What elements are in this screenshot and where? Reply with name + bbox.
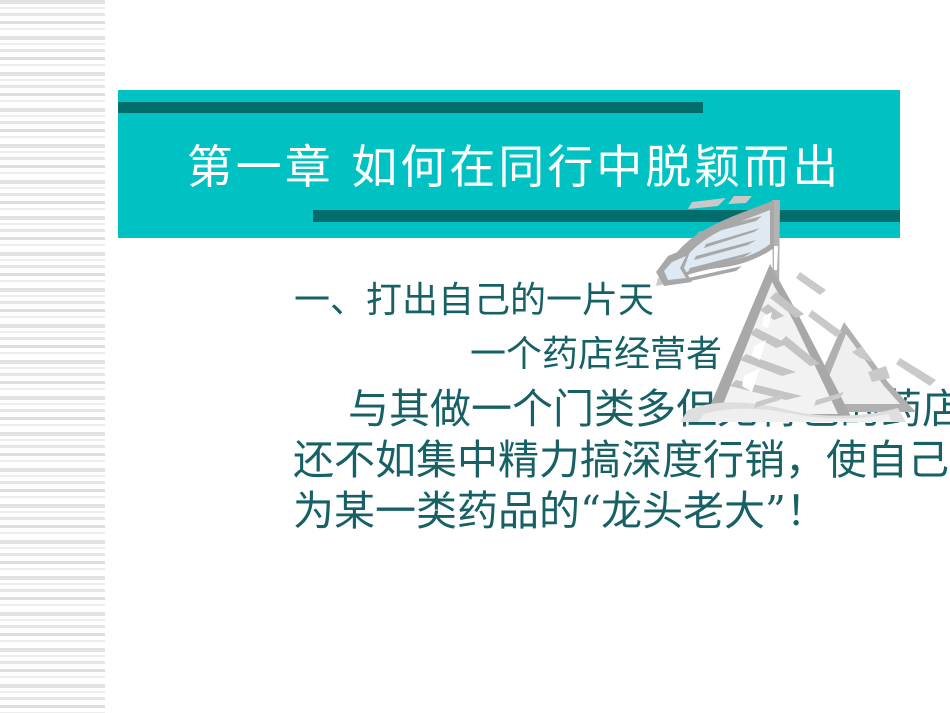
- body-text-block: 一、打出自己的一片天 一个药店经营者 与其做一个门类多但无特色的药店， 还不如集…: [118, 283, 938, 532]
- body-line-4: 还不如集中精力搞深度行销，使自己成: [293, 440, 938, 481]
- title-banner: 第一章 如何在同行中脱颖而出: [118, 90, 900, 238]
- body-line-5: 为某一类药品的“龙头老大”！: [293, 491, 938, 532]
- body-line-1: 一、打出自己的一片天: [294, 283, 938, 319]
- body-line-3: 与其做一个门类多但无特色的药店，: [348, 389, 938, 430]
- decorative-stripe-sidebar: [0, 0, 105, 713]
- slide-canvas: 第一章 如何在同行中脱颖而出 一、打出自己的一片天 一个药店经营者 与其做一个门…: [0, 0, 950, 713]
- body-line-2: 一个药店经营者: [470, 337, 938, 373]
- slide-title: 第一章 如何在同行中脱颖而出: [118, 90, 900, 238]
